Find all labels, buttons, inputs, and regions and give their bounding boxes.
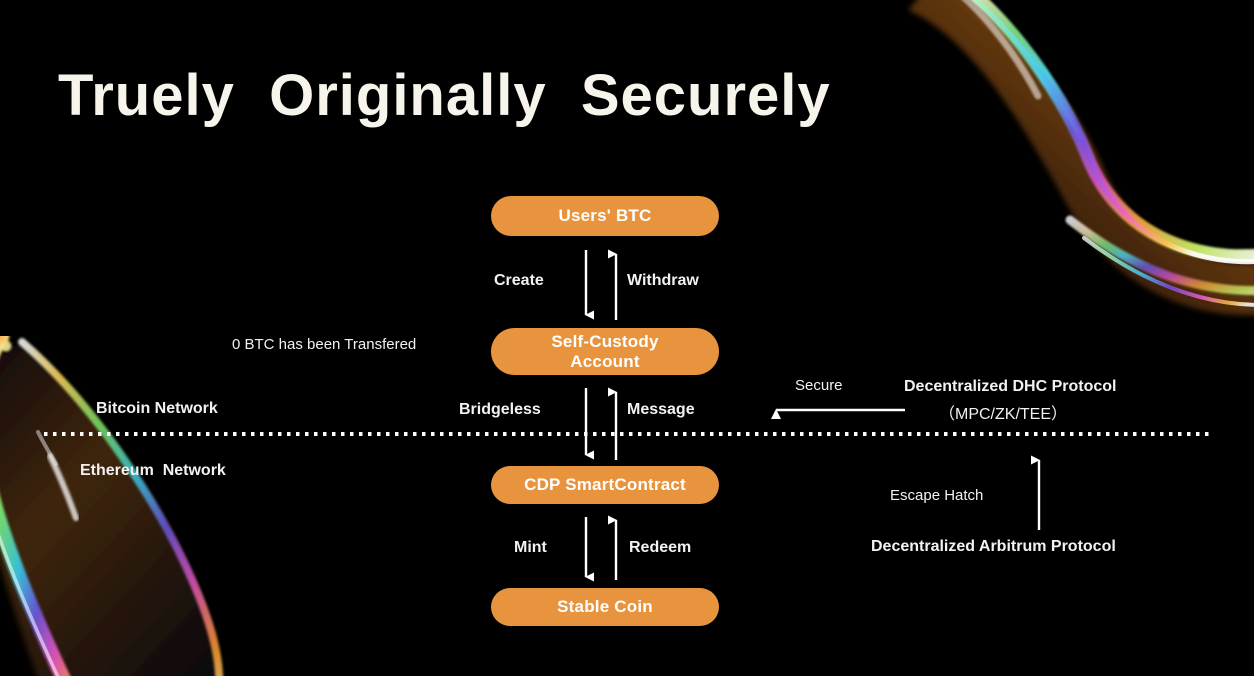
node-stable-coin[interactable]: Stable Coin [491, 588, 719, 626]
edge-label-redeem: Redeem [629, 539, 691, 557]
edge-label-create: Create [494, 272, 544, 290]
node-cdp-smartcontract[interactable]: CDP SmartContract [491, 466, 719, 504]
node-users-btc[interactable]: Users' BTC [491, 196, 719, 236]
edge-label-withdraw: Withdraw [627, 272, 699, 290]
bitcoin-network-label: Bitcoin Network [96, 400, 218, 418]
node-self-custody-account-label: Self-Custody Account [551, 332, 658, 370]
dhc-protocol-subtitle: （MPC/ZK/TEE） [939, 400, 1067, 424]
edge-label-secure: Secure [795, 377, 843, 394]
edge-label-escape-hatch: Escape Hatch [890, 487, 983, 504]
edge-label-mint: Mint [514, 539, 547, 557]
transferred-status-text: 0 BTC has been Transfered [232, 336, 416, 353]
node-self-custody-account[interactable]: Self-Custody Account [491, 328, 719, 375]
edge-label-bridgeless: Bridgeless [459, 401, 541, 419]
arbitrum-protocol-label: Decentralized Arbitrum Protocol [871, 538, 1116, 556]
edge-label-message: Message [627, 401, 695, 419]
soap-bubble-top-right-icon [874, 0, 1254, 350]
soap-bubble-bottom-left-icon [0, 336, 330, 676]
ethereum-network-label: Ethereum Network [80, 462, 226, 480]
dhc-protocol-title: Decentralized DHC Protocol [904, 378, 1116, 396]
slide-canvas: Truely Originally Securely [0, 0, 1254, 676]
page-title: Truely Originally Securely [58, 64, 831, 128]
